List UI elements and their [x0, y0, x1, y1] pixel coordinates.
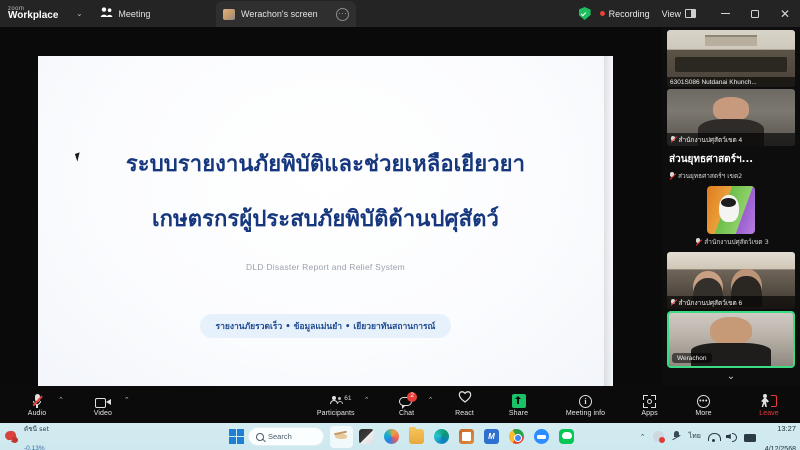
react-label: React	[455, 410, 474, 417]
file-explorer-dark-icon	[359, 429, 374, 444]
windows-taskbar: ดัชนี set -0.13% Search M	[0, 423, 800, 450]
shared-screen-thumbnail-icon	[223, 9, 235, 20]
close-button[interactable]: ✕	[770, 0, 800, 27]
shared-screen-stage: ระบบรายงานภัยพิบัติและช่วยเหลือเยียวยา เ…	[0, 27, 662, 386]
system-tray: ⌃ ไทย 13:27 4/12/2568	[640, 417, 796, 450]
share-label: Share	[509, 410, 528, 417]
edge-icon	[434, 429, 449, 444]
microphone-muted-icon	[695, 238, 701, 246]
recording-label: Recording	[609, 9, 650, 19]
participant-tile[interactable]: สำนักงานปศุสัตว์เขต 4	[667, 89, 795, 146]
audio-options-chevron-up-icon[interactable]: ⌃	[58, 396, 64, 404]
chat-button[interactable]: 2 Chat	[388, 386, 426, 423]
video-button[interactable]: Video	[84, 386, 122, 423]
participant-name: 6301S086 Nutdanai Khunch...	[670, 79, 757, 86]
chat-icon: 2	[399, 396, 414, 408]
taskbar-app-explorer-dark[interactable]	[355, 426, 378, 448]
cloud-sync-alert-icon[interactable]	[653, 431, 664, 442]
participants-count: 61	[344, 395, 351, 402]
participant-tile[interactable]: สำนักงานปศุสัตว์เขต 6	[667, 252, 795, 309]
taskbar-app-store[interactable]	[455, 426, 478, 448]
panda-avatar	[707, 186, 755, 234]
taskbar-app-line[interactable]	[555, 426, 578, 448]
workplace-wordmark: Workplace	[8, 11, 58, 21]
view-button[interactable]: View	[662, 9, 696, 19]
participants-button[interactable]: 61 Participants	[310, 386, 362, 423]
video-options-chevron-up-icon[interactable]: ⌃	[124, 396, 130, 404]
chat-label: Chat	[399, 410, 414, 417]
react-button[interactable]: React	[450, 386, 480, 423]
microphone-muted-icon	[670, 136, 676, 144]
participant-name: Werachon	[677, 355, 707, 362]
security-shield-icon[interactable]	[579, 7, 591, 20]
zoom-meeting-window: zoom Workplace ⌄ Meeting Werachon's scre…	[0, 0, 800, 450]
tray-overflow-chevron-up-icon[interactable]: ⌃	[640, 433, 646, 441]
info-icon: i	[579, 395, 592, 408]
participants-options-chevron-up-icon[interactable]: ⌃	[364, 396, 370, 404]
minimize-button[interactable]	[710, 0, 740, 27]
leave-meeting-icon	[761, 394, 777, 408]
share-screen-icon	[512, 394, 526, 408]
camera-icon	[95, 398, 111, 408]
meeting-tab-label: Meeting	[118, 9, 150, 19]
leave-label: Leave	[759, 410, 779, 417]
taskbar-app-m[interactable]: M	[480, 426, 503, 448]
language-indicator[interactable]: ไทย	[689, 431, 701, 442]
share-screen-button[interactable]: Share	[502, 386, 536, 423]
slide-subtitle: DLD Disaster Report and Relief System	[246, 262, 405, 272]
line-icon	[559, 429, 574, 444]
avatar-name-row: สำนักงานปศุสัตว์เขต 3	[669, 237, 795, 247]
slide-title-line-2: เกษตรกรผู้ประสบภัยพิบัติด้านปศุสัตว์	[152, 201, 499, 236]
recording-dot-icon	[600, 11, 605, 16]
participant-name-tag: Werachon	[672, 353, 712, 363]
taskbar-app-icons: M	[330, 426, 578, 448]
folder-icon	[409, 429, 424, 444]
wifi-icon[interactable]	[708, 431, 719, 442]
meeting-tab[interactable]: Meeting	[100, 5, 150, 23]
speaker-icon[interactable]	[726, 431, 737, 442]
participant-name-tag: สำนักงานปศุสัตว์เขต 4	[667, 133, 795, 146]
view-layout-icon	[685, 9, 696, 18]
microphone-muted-icon	[33, 394, 41, 408]
stock-widget-change: -0.13%	[24, 445, 45, 450]
chrome-icon	[509, 429, 524, 444]
participant-name: สำนักงานปศุสัตว์เขต 6	[679, 298, 743, 308]
microphone-muted-icon	[669, 172, 675, 180]
participant-filmstrip[interactable]: 6301S086 Nutdanai Khunch... สำนักงานปศุส…	[662, 27, 800, 386]
audio-label: Audio	[28, 410, 46, 417]
taskbar-app-edge[interactable]	[430, 426, 453, 448]
panda-avatar-icon	[707, 186, 755, 234]
heart-icon	[458, 390, 472, 408]
shared-screen-more-icon[interactable]: ···	[336, 8, 349, 21]
participants-icon: 61	[328, 396, 343, 408]
taskbar-app-copilot[interactable]	[380, 426, 403, 448]
taskbar-search-input[interactable]: Search	[248, 427, 324, 446]
video-label: Video	[94, 410, 112, 417]
more-icon: •••	[697, 395, 710, 408]
clock-date: 4/12/2568	[765, 446, 796, 450]
workspace-chevron-down-icon[interactable]: ⌄	[72, 9, 86, 18]
zoom-logo: zoom Workplace	[8, 6, 58, 21]
meeting-info-button[interactable]: i Meeting info	[560, 386, 612, 423]
stock-widget-title: ดัชนี set	[24, 425, 49, 433]
participant-name-tag: 6301S086 Nutdanai Khunch...	[667, 77, 795, 87]
clock-time: 13:27	[777, 424, 796, 433]
spotlight-participant-subname-row: ส่วนยุทธศาสตร์ฯ เขต2	[669, 171, 795, 181]
stock-widget-icon	[4, 430, 20, 444]
window-controls-group: Recording View ✕	[579, 0, 800, 27]
participant-tile-active-speaker[interactable]: Werachon	[667, 311, 795, 368]
copilot-icon	[384, 429, 399, 444]
view-label: View	[662, 9, 681, 19]
chat-unread-badge: 2	[407, 392, 417, 402]
title-bar: zoom Workplace ⌄ Meeting Werachon's scre…	[0, 0, 800, 27]
participant-name: สำนักงานปศุสัตว์เขต 4	[679, 135, 743, 145]
shared-screen-tab-label: Werachon's screen	[241, 9, 330, 19]
taskbar-app-zoom[interactable]	[530, 426, 553, 448]
meeting-info-label: Meeting info	[566, 410, 605, 417]
participants-group-icon	[100, 5, 113, 23]
taskbar-app-chrome[interactable]	[505, 426, 528, 448]
taskbar-stock-widget[interactable]: ดัชนี set -0.13%	[4, 418, 49, 450]
avatar-participant-name: สำนักงานปศุสัตว์เขต 3	[704, 237, 768, 247]
battery-icon[interactable]	[744, 431, 755, 442]
more-label: More	[695, 410, 711, 417]
apps-icon	[643, 395, 656, 408]
avatar-tile[interactable]	[667, 186, 795, 234]
recording-indicator[interactable]: Recording	[600, 9, 650, 19]
shared-screen-tab[interactable]: Werachon's screen ···	[216, 1, 356, 27]
participants-label: Participants	[317, 410, 355, 417]
slide-tagline-pill: รายงานภัยรวดเร็ว • ข้อมูลแม่นยำ • เยียวย…	[200, 314, 452, 338]
presentation-slide: ระบบรายงานภัยพิบัติและช่วยเหลือเยียวยา เ…	[38, 56, 613, 396]
chat-options-chevron-up-icon[interactable]: ⌃	[428, 396, 434, 404]
taskbar-clock[interactable]: 13:27 4/12/2568	[765, 417, 796, 450]
participant-tile[interactable]: 6301S086 Nutdanai Khunch...	[667, 30, 795, 87]
store-icon	[459, 429, 474, 444]
taskbar-app-folder[interactable]	[405, 426, 428, 448]
m-app-icon: M	[484, 429, 499, 444]
fish-app-icon	[334, 429, 349, 444]
taskbar-app-fish[interactable]	[330, 426, 353, 448]
pin-icon[interactable]	[671, 431, 682, 442]
apps-label: Apps	[641, 410, 657, 417]
search-icon	[256, 433, 264, 441]
participant-name-tag: สำนักงานปศุสัตว์เขต 6	[667, 296, 795, 309]
zoom-icon	[534, 429, 549, 444]
search-placeholder: Search	[268, 432, 292, 441]
maximize-button[interactable]	[740, 0, 770, 27]
spotlight-participant-name: ส่วนยุทธศาสตร์ฯ...	[669, 152, 795, 167]
filmstrip-scroll-down-icon[interactable]: ⌄	[662, 371, 800, 382]
windows-start-button[interactable]	[229, 429, 244, 444]
microphone-muted-icon	[670, 299, 676, 307]
slide-title-line-1: ระบบรายงานภัยพิบัติและช่วยเหลือเยียวยา	[126, 146, 525, 181]
spotlight-participant-subname: ส่วนยุทธศาสตร์ฯ เขต2	[678, 171, 742, 181]
